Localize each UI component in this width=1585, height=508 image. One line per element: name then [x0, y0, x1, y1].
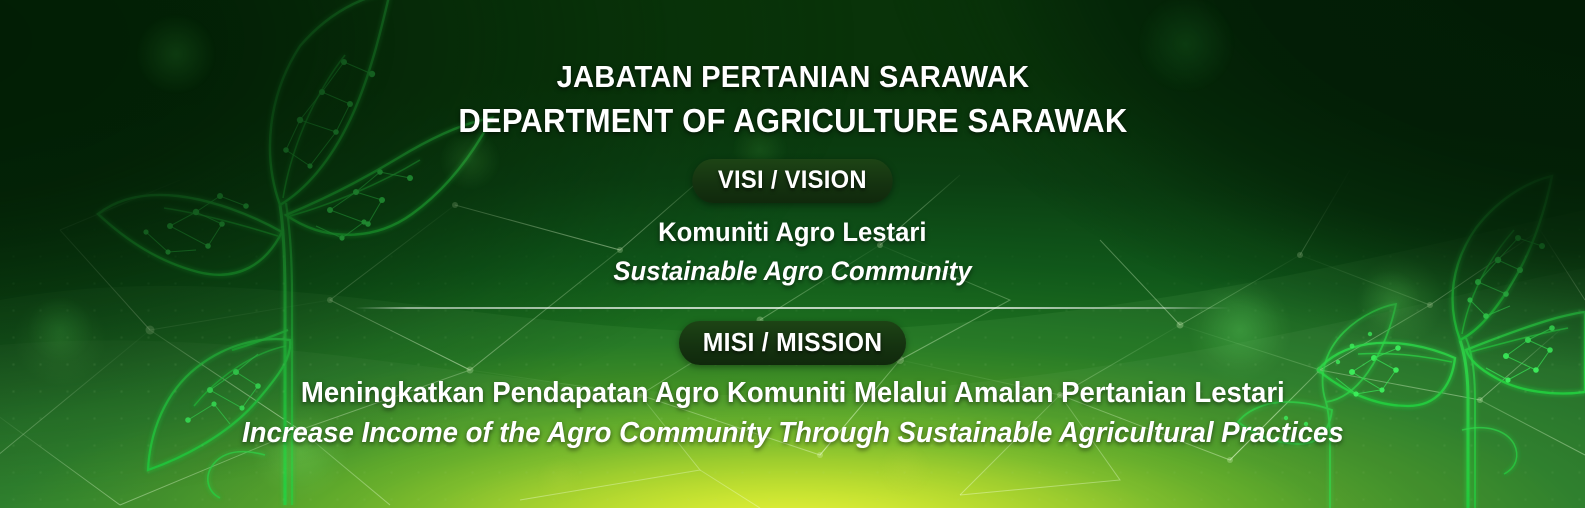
- organisation-title: JABATAN PERTANIAN SARAWAK DEPARTMENT OF …: [437, 55, 1149, 143]
- mission-statement-malay: Meningkatkan Pendapatan Agro Komuniti Me…: [301, 374, 1285, 412]
- vision-statement-english: Sustainable Agro Community: [613, 252, 971, 290]
- mission-badge: MISI / MISSION: [679, 321, 906, 365]
- mission-section: MISI / MISSION Meningkatkan Pendapatan A…: [213, 321, 1373, 452]
- banner-content: JABATAN PERTANIAN SARAWAK DEPARTMENT OF …: [0, 0, 1585, 508]
- mission-statement-english: Increase Income of the Agro Community Th…: [242, 414, 1344, 452]
- org-name-malay: JABATAN PERTANIAN SARAWAK: [458, 55, 1127, 99]
- vision-badge: VISI / VISION: [692, 159, 892, 203]
- section-divider: [355, 307, 1230, 309]
- vision-section: VISI / VISION Komuniti Agro Lestari Sust…: [604, 159, 981, 290]
- org-name-english: DEPARTMENT OF AGRICULTURE SARAWAK: [458, 99, 1127, 143]
- vision-statement-malay: Komuniti Agro Lestari: [658, 213, 926, 251]
- vision-mission-banner: JABATAN PERTANIAN SARAWAK DEPARTMENT OF …: [0, 0, 1585, 508]
